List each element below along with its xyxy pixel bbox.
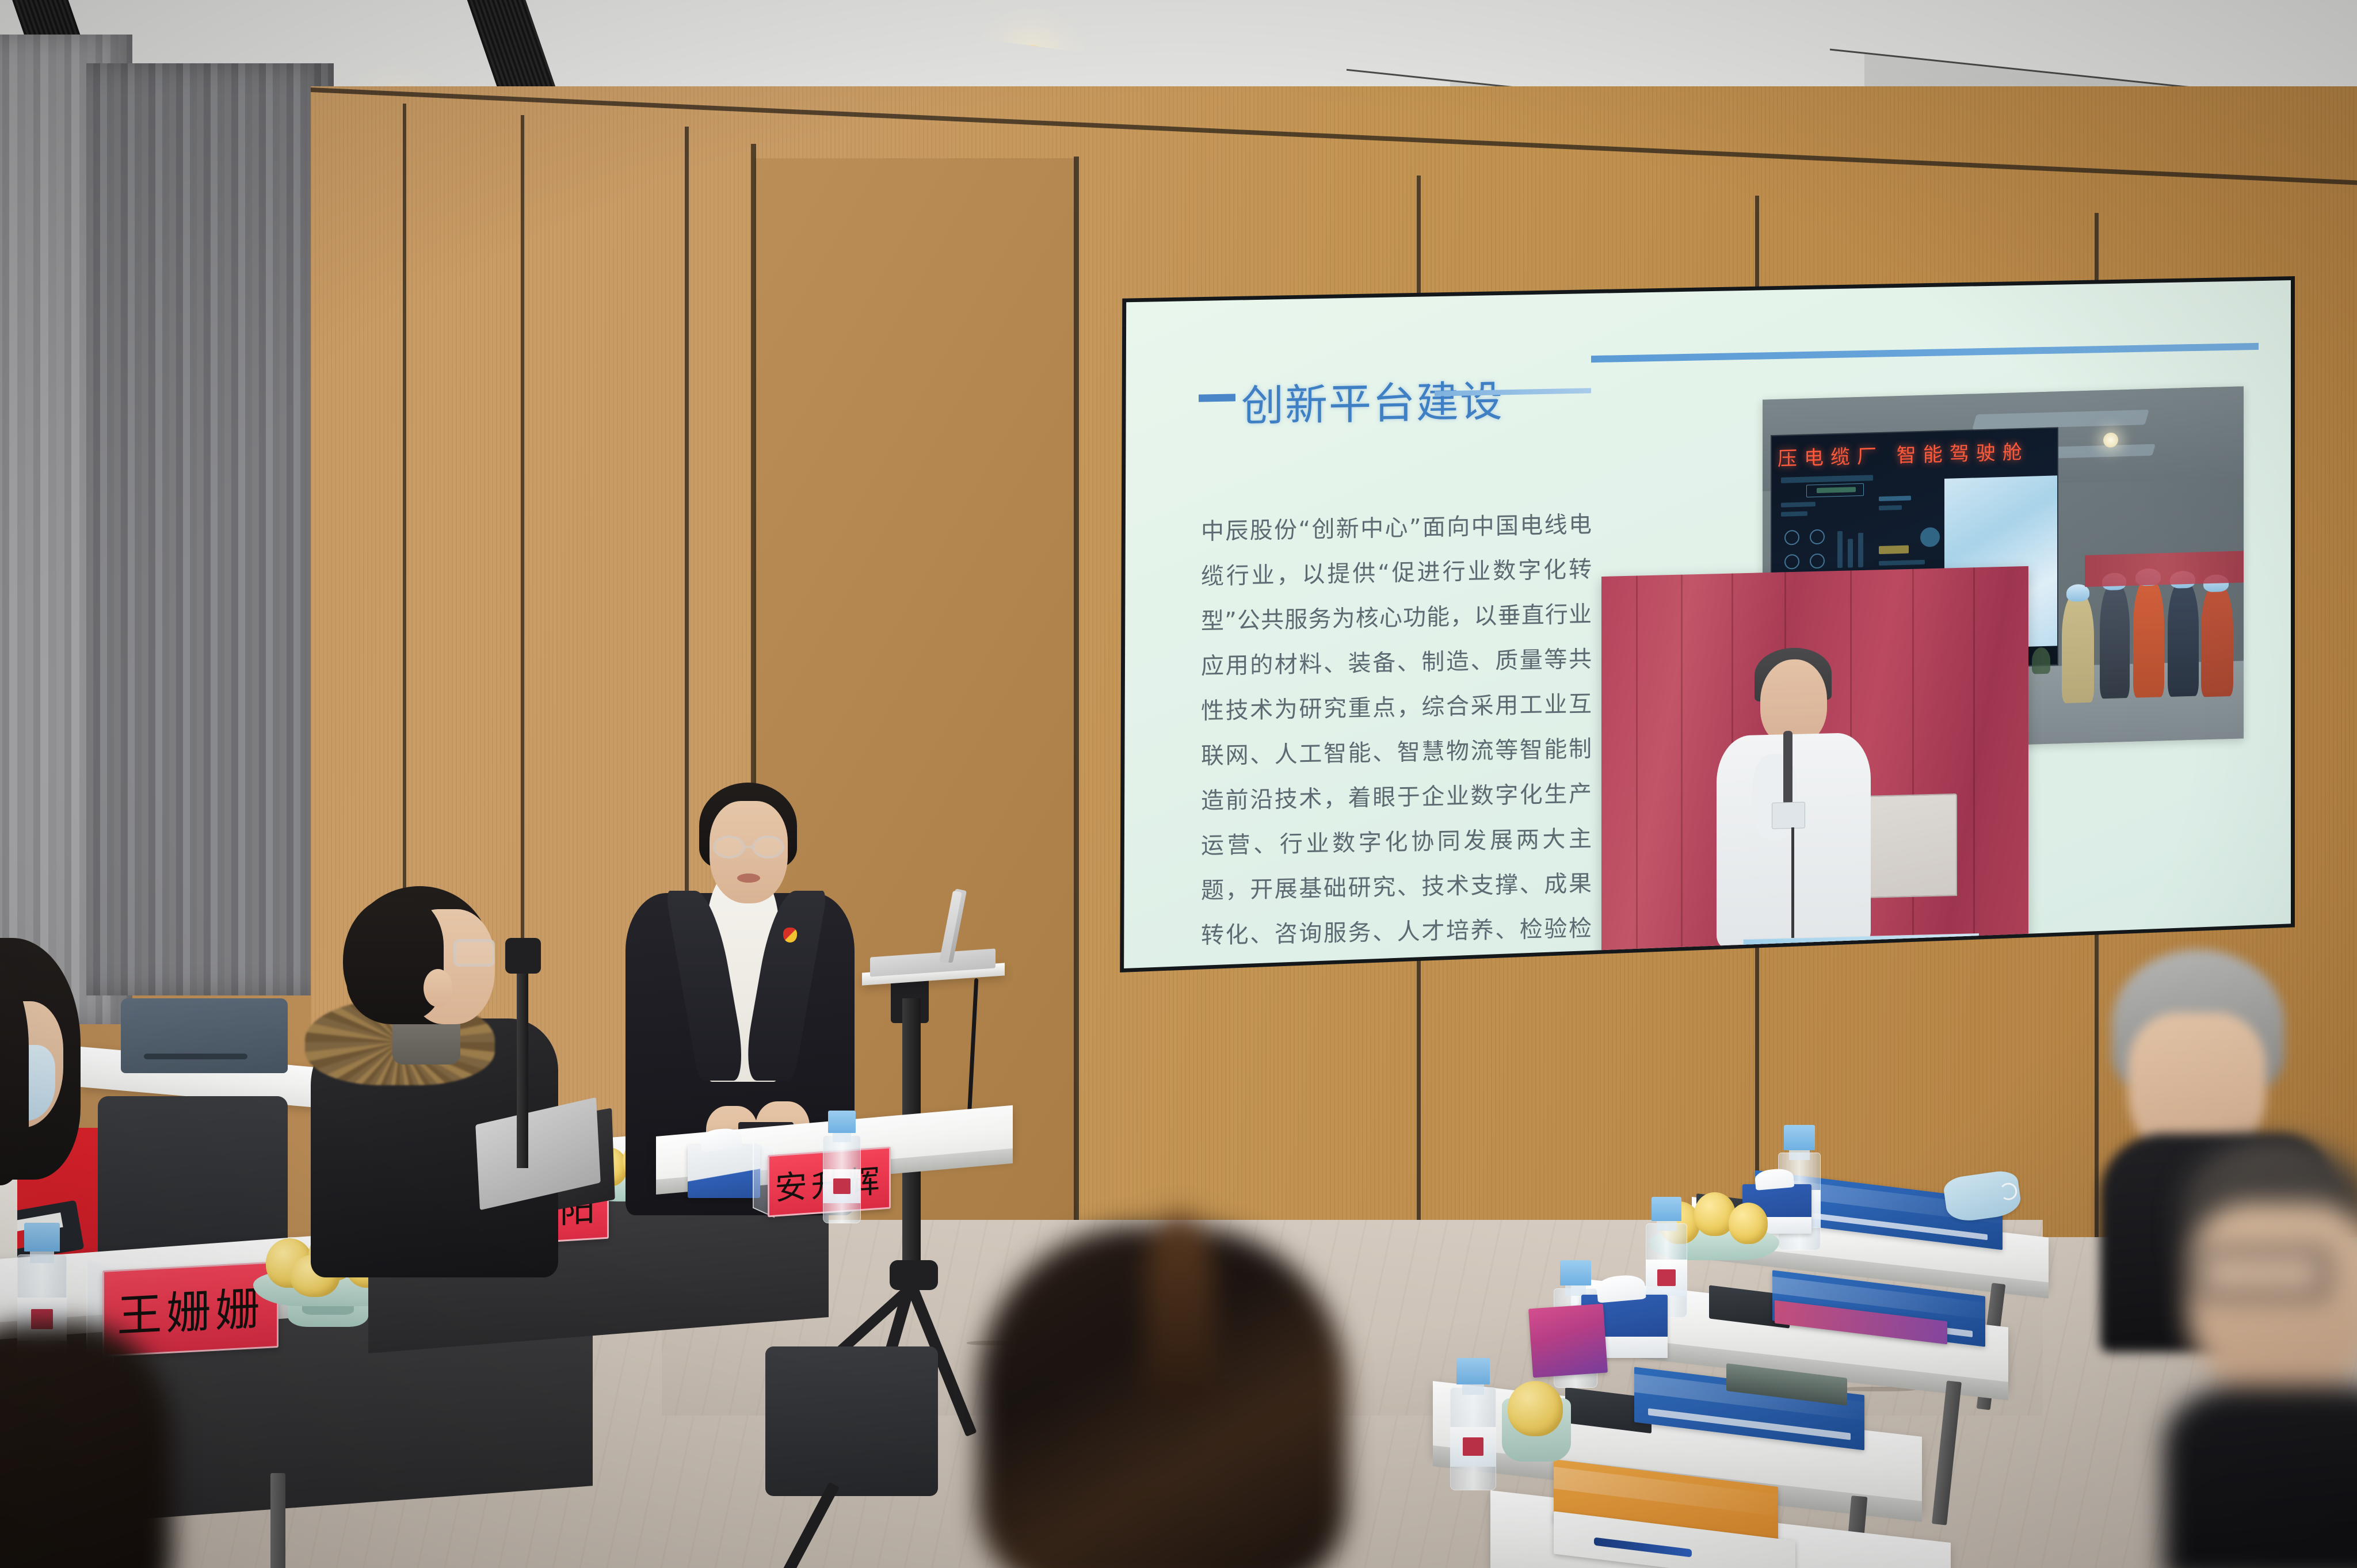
control-room-visitor xyxy=(2133,578,2164,698)
slide: 创新平台建设 中辰股份“创新中心”面向中国电线电缆行业，以提供“促进行业数字化转… xyxy=(1119,280,2291,968)
mic-stand-head xyxy=(505,938,541,974)
control-room-gauge xyxy=(1784,554,1799,570)
water-bottle xyxy=(823,1111,861,1223)
eyeglasses xyxy=(752,835,784,859)
attendee-hair-part xyxy=(1145,1214,1214,1404)
conference-room-scene: 创新平台建设 中辰股份“创新中心”面向中国电线电缆行业，以提供“促进行业数字化转… xyxy=(0,0,2357,1568)
mic-stand-pole xyxy=(517,961,528,1168)
control-room-visitor xyxy=(2100,583,2130,699)
curtain-fold xyxy=(1912,569,1914,968)
control-room-widget xyxy=(1879,560,1925,566)
control-room-gauge xyxy=(1810,554,1825,569)
control-room-widget xyxy=(1781,511,1807,516)
bottle-brand-mark xyxy=(833,1178,850,1194)
slide-body-text: 中辰股份“创新中心”面向中国电线电缆行业，以提供“促进行业数字化转型”公共服务为… xyxy=(1201,502,1592,968)
control-room-gauge xyxy=(1784,530,1799,545)
presenter-mouth xyxy=(737,873,760,883)
attendee-hair xyxy=(0,1323,173,1568)
wall-seam xyxy=(1074,157,1079,1287)
control-room-widget xyxy=(1879,495,1911,501)
control-room-visitor xyxy=(2062,593,2094,704)
control-room-widget xyxy=(1858,533,1863,567)
eyeglasses-bridge xyxy=(744,846,754,848)
control-room-widget xyxy=(1781,475,1873,483)
bottle-cap xyxy=(1456,1358,1490,1384)
bottle-cap xyxy=(828,1111,856,1133)
control-room-widget xyxy=(1879,505,1902,510)
office-chair xyxy=(765,1346,938,1496)
projection-screen: 创新平台建设 中辰股份“创新中心”面向中国电线电缆行业，以提供“促进行业数字化转… xyxy=(1115,276,2295,972)
curtain-fold xyxy=(1973,567,1975,968)
window-curtain xyxy=(86,63,334,995)
control-room-widget xyxy=(1781,502,1816,508)
table-leg xyxy=(270,1473,285,1568)
control-room-widget xyxy=(1848,539,1853,567)
bottle-cap xyxy=(24,1223,60,1252)
attendee-fg-glasses xyxy=(2164,1139,2357,1568)
pear xyxy=(1729,1203,1768,1244)
attendee-head xyxy=(2187,1203,2357,1398)
tissue-box xyxy=(688,1145,760,1198)
eyeglasses xyxy=(713,835,745,859)
tripod-spider xyxy=(890,1260,938,1290)
bottle-cap xyxy=(1784,1125,1814,1150)
microphone xyxy=(1783,731,1792,804)
bottle-cap xyxy=(1560,1260,1592,1285)
control-room-banner-text: 压电缆厂 智能驾驶舱 xyxy=(1778,436,2029,471)
speaker-head xyxy=(1760,658,1827,745)
speaker-badge xyxy=(1772,802,1805,829)
attendee-ear xyxy=(424,969,452,1007)
water-bottle xyxy=(1450,1358,1496,1490)
eyeglasses xyxy=(2196,1249,2328,1298)
mask-ear-loop xyxy=(1999,1182,2018,1201)
pear xyxy=(1508,1381,1563,1436)
control-room-widget xyxy=(1817,487,1856,493)
control-room-widget xyxy=(1879,545,1909,554)
control-room-widget xyxy=(1920,527,1940,547)
magazine-pink xyxy=(1528,1304,1608,1378)
bottle-brand-mark xyxy=(1463,1437,1483,1456)
control-room-gauge xyxy=(1810,529,1825,545)
control-room-visitor xyxy=(2201,585,2233,697)
bottle-brand-mark xyxy=(1657,1269,1676,1286)
slide-top-accent-bar xyxy=(1591,343,2259,363)
curtain-fold xyxy=(1636,576,1638,968)
control-room-red-band xyxy=(2085,551,2244,587)
control-room-visitor xyxy=(2168,581,2199,697)
attendee-fg-left-edge xyxy=(0,1323,196,1568)
slide-photo-speaker: ⅋ 中国宜兴环保科技工业园 China Yixing Industrial Pa… xyxy=(1601,566,2028,968)
attendee-fg-hair xyxy=(955,1214,1393,1568)
projection-screen-surface: 创新平台建设 中辰股份“创新中心”面向中国电线电缆行业，以提供“促进行业数字化转… xyxy=(1119,280,2291,968)
bottle-cap xyxy=(1652,1197,1681,1221)
curtain-fold xyxy=(1681,575,1683,968)
slide-title-dash xyxy=(1199,394,1235,402)
eyeglasses xyxy=(453,939,495,967)
control-room-plant xyxy=(2032,647,2050,674)
microphone-cord xyxy=(1791,827,1794,948)
attendee-parka xyxy=(299,875,598,1277)
slide-title: 创新平台建设 xyxy=(1241,367,1504,434)
attendee-jacket xyxy=(2164,1387,2357,1568)
control-room-widget xyxy=(1837,531,1843,568)
party-emblem-pin xyxy=(783,928,797,943)
